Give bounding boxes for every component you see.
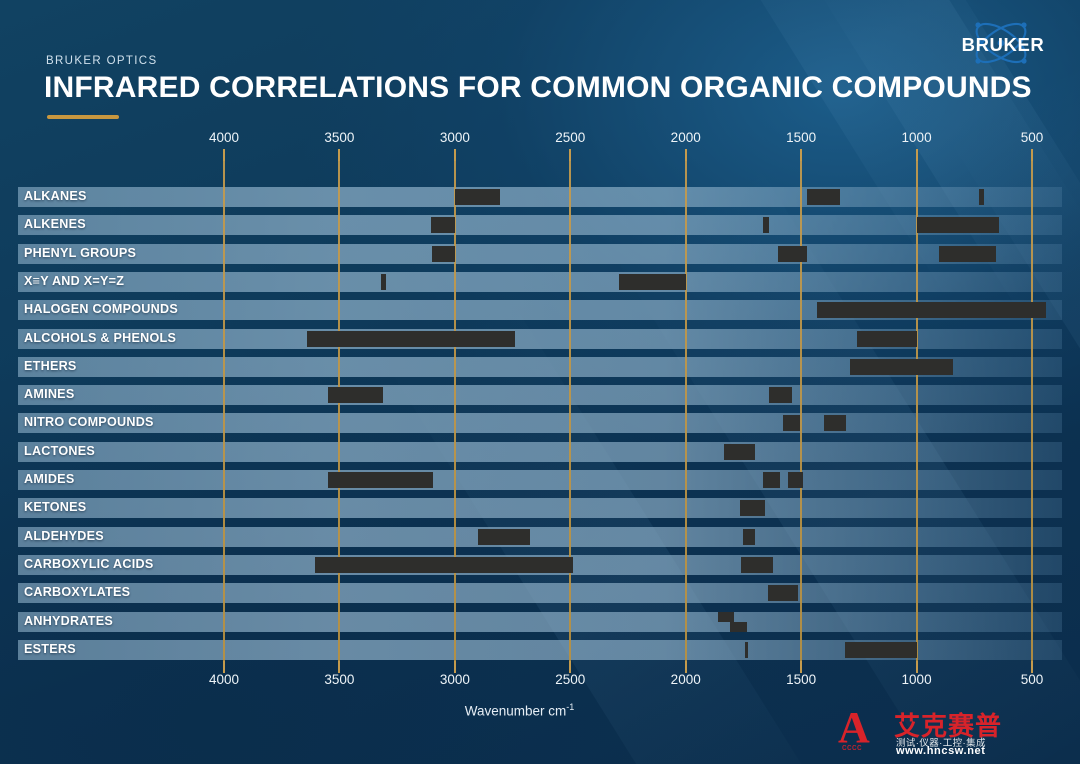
absorption-band-bar <box>979 189 984 205</box>
row-stripe <box>18 470 1062 490</box>
absorption-band-bar <box>857 331 917 347</box>
absorption-band-bar <box>763 472 780 488</box>
row-label-halogen-compounds: HALOGEN COMPOUNDS <box>24 299 178 319</box>
x-axis-label-bottom-4000: 4000 <box>209 672 239 687</box>
absorption-band-bar <box>745 642 748 658</box>
x-axis-label-bottom-500: 500 <box>1021 672 1044 687</box>
absorption-band-bar <box>783 415 800 431</box>
absorption-band-bar <box>724 444 755 460</box>
absorption-band-bar <box>478 529 530 545</box>
x-axis-label-bottom-1000: 1000 <box>902 672 932 687</box>
watermark-url: www.hncsw.net <box>896 745 986 757</box>
tick-top-3000 <box>454 149 456 161</box>
watermark: A 艾克赛普 测试·仪器·工控·集成 www.hncsw.net cccc <box>838 702 1068 758</box>
chart-row: ALCOHOLS & PHENOLS <box>18 329 1062 349</box>
absorption-band-bar <box>763 217 769 233</box>
x-axis-label-top-4000: 4000 <box>209 130 239 145</box>
x-axis-title: Wavenumber cm-1 <box>465 702 575 719</box>
gridline-500 <box>1031 161 1033 673</box>
absorption-band-bar <box>743 529 755 545</box>
tick-top-3500 <box>338 149 340 161</box>
gridline-1000 <box>916 161 918 673</box>
absorption-band-bar <box>845 642 917 658</box>
chart-row: ALKENES <box>18 215 1062 235</box>
tick-top-2000 <box>685 149 687 161</box>
row-stripe <box>18 413 1062 433</box>
row-label-amines: AMINES <box>24 384 74 404</box>
chart-row: X≡Y AND X=Y=Z <box>18 272 1062 292</box>
x-axis-label-bottom-2500: 2500 <box>555 672 585 687</box>
row-label-aldehydes: ALDEHYDES <box>24 526 104 546</box>
bruker-logo: BRUKER <box>938 12 1064 74</box>
title-underline-rule <box>47 115 119 119</box>
gridline-2500 <box>569 161 571 673</box>
row-label-ethers: ETHERS <box>24 356 77 376</box>
gridline-4000 <box>223 161 225 673</box>
row-label-carboxylic-acids: CARBOXYLIC ACIDS <box>24 554 153 574</box>
row-stripe <box>18 527 1062 547</box>
row-label-nitro-compounds: NITRO COMPOUNDS <box>24 412 154 432</box>
row-label-alkanes: ALKANES <box>24 186 87 206</box>
absorption-band-bar <box>328 472 433 488</box>
absorption-band-bar <box>619 274 686 290</box>
row-label-x-y-and-x-y-z: X≡Y AND X=Y=Z <box>24 271 124 291</box>
absorption-band-bar <box>740 500 765 516</box>
row-label-anhydrates: ANHYDRATES <box>24 611 113 631</box>
absorption-band-bar <box>824 415 846 431</box>
row-label-esters: ESTERS <box>24 639 76 659</box>
x-axis-title-text: Wavenumber cm <box>465 704 567 719</box>
chart-row: CARBOXYLATES <box>18 583 1062 603</box>
chart-row: PHENYL GROUPS <box>18 244 1062 264</box>
x-axis-label-bottom-1500: 1500 <box>786 672 816 687</box>
chart-row: ALKANES <box>18 187 1062 207</box>
gridline-3500 <box>338 161 340 673</box>
x-axis-label-top-2000: 2000 <box>671 130 701 145</box>
x-axis-title-exponent: -1 <box>566 702 574 712</box>
tick-top-1500 <box>800 149 802 161</box>
x-axis-label-top-1500: 1500 <box>786 130 816 145</box>
row-label-alkenes: ALKENES <box>24 214 86 234</box>
x-axis-label-bottom-3000: 3000 <box>440 672 470 687</box>
absorption-band-bar <box>431 217 455 233</box>
row-stripe <box>18 498 1062 518</box>
row-stripe <box>18 612 1062 632</box>
absorption-band-bar <box>768 585 798 601</box>
x-axis-label-top-2500: 2500 <box>555 130 585 145</box>
chart-row: ETHERS <box>18 357 1062 377</box>
tick-top-1000 <box>916 149 918 161</box>
absorption-band-bar <box>778 246 807 262</box>
absorption-band-bar <box>328 387 383 403</box>
chart-row: ESTERS <box>18 640 1062 660</box>
chart-row: HALOGEN COMPOUNDS <box>18 300 1062 320</box>
chart-row: CARBOXYLIC ACIDS <box>18 555 1062 575</box>
row-label-carboxylates: CARBOXYLATES <box>24 582 130 602</box>
x-axis-label-top-500: 500 <box>1021 130 1044 145</box>
absorption-band-bar <box>741 557 773 573</box>
absorption-band-bar <box>850 359 954 375</box>
row-stripe <box>18 442 1062 462</box>
absorption-band-bar <box>917 217 999 233</box>
absorption-band-bar <box>939 246 997 262</box>
x-axis-label-bottom-2000: 2000 <box>671 672 701 687</box>
chart-row: NITRO COMPOUNDS <box>18 413 1062 433</box>
absorption-band-bar <box>807 189 840 205</box>
tick-top-4000 <box>223 149 225 161</box>
chart-row: ANHYDRATES <box>18 612 1062 632</box>
watermark-mark: cccc <box>842 742 862 752</box>
gridline-3000 <box>454 161 456 673</box>
absorption-band-bar <box>455 189 500 205</box>
bruker-wordmark: BRUKER <box>944 34 1062 56</box>
absorption-band-bar <box>817 302 1046 318</box>
row-label-amides: AMIDES <box>24 469 74 489</box>
row-label-lactones: LACTONES <box>24 441 95 461</box>
row-stripe <box>18 244 1062 264</box>
absorption-band-bar <box>315 557 572 573</box>
page-title: INFRARED CORRELATIONS FOR COMMON ORGANIC… <box>44 71 1032 105</box>
chart-row: AMIDES <box>18 470 1062 490</box>
row-label-ketones: KETONES <box>24 497 86 517</box>
gridline-2000 <box>685 161 687 673</box>
slide-background: BRUKER OPTICS INFRARED CORRELATIONS FOR … <box>0 0 1080 764</box>
brand-eyebrow: BRUKER OPTICS <box>46 55 157 67</box>
row-stripe <box>18 215 1062 235</box>
row-label-phenyl-groups: PHENYL GROUPS <box>24 243 136 263</box>
x-axis-label-top-3000: 3000 <box>440 130 470 145</box>
row-stripe <box>18 583 1062 603</box>
absorption-band-bar <box>381 274 386 290</box>
x-axis-label-top-3500: 3500 <box>324 130 354 145</box>
row-stripe <box>18 187 1062 207</box>
absorption-band-bar <box>432 246 455 262</box>
chart-row: LACTONES <box>18 442 1062 462</box>
chart-row: KETONES <box>18 498 1062 518</box>
absorption-band-bar <box>718 612 734 622</box>
absorption-band-bar <box>788 472 803 488</box>
row-stripe <box>18 385 1062 405</box>
x-axis-label-bottom-3500: 3500 <box>324 672 354 687</box>
absorption-band-bar <box>769 387 792 403</box>
chart-row: AMINES <box>18 385 1062 405</box>
chart-row: ALDEHYDES <box>18 527 1062 547</box>
row-label-alcohols-phenols: ALCOHOLS & PHENOLS <box>24 328 176 348</box>
absorption-band-bar <box>730 622 747 632</box>
tick-top-2500 <box>569 149 571 161</box>
row-stripe <box>18 272 1062 292</box>
tick-top-500 <box>1031 149 1033 161</box>
ir-correlation-chart: 4000400035003500300030002500250020002000… <box>0 175 1080 665</box>
gridline-1500 <box>800 161 802 673</box>
absorption-band-bar <box>307 331 515 347</box>
x-axis-label-top-1000: 1000 <box>902 130 932 145</box>
